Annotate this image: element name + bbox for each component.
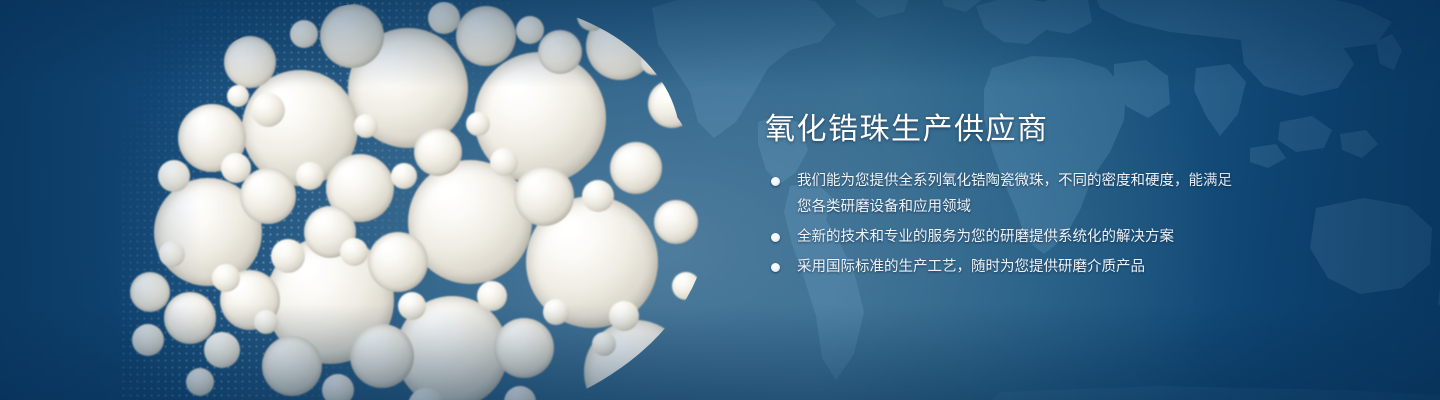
promotional-banner: 氧化锆珠生产供应商 我们能为您提供全系列氧化锆陶瓷微珠，不同的密度和硬度，能满足… — [0, 0, 1440, 400]
banner-edge-vignette — [0, 0, 1440, 400]
